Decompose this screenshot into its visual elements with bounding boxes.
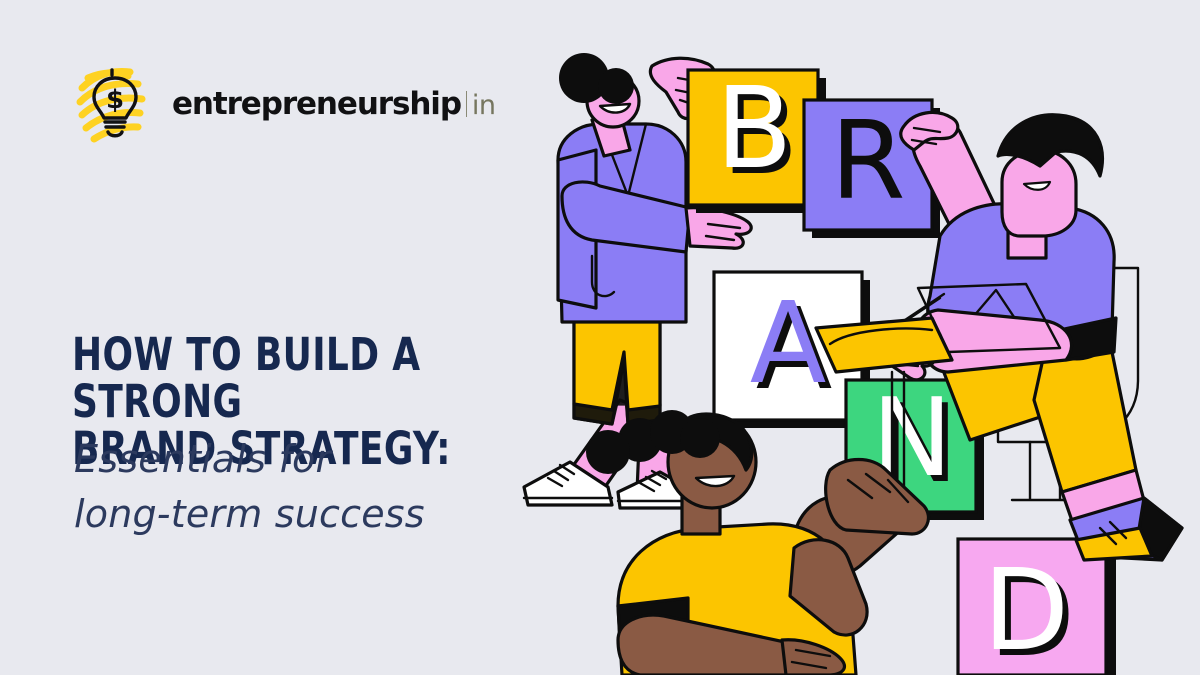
logo-word-in: in	[472, 92, 495, 119]
lightbulb-dollar-icon: $	[72, 58, 158, 150]
logo-word-main: entrepreneurship	[172, 89, 461, 120]
headline-line-1: How to Build a Strong	[72, 328, 420, 428]
logo-divider-1	[466, 91, 467, 117]
svg-text:$: $	[106, 85, 124, 115]
subheadline-line-1: Essentials for	[74, 437, 331, 481]
banner-canvas: $ entrepreneurship in a box How to Build…	[0, 0, 1200, 675]
hero-illustration: .ink{stroke:#0d0d0d;stroke-width:3.2;str…	[500, 0, 1200, 675]
svg-text:R: R	[830, 99, 905, 224]
page-subtitle: Essentials for long-term success	[74, 432, 554, 542]
svg-text:A: A	[750, 279, 827, 409]
svg-text:B: B	[716, 64, 793, 194]
svg-text:D: D	[983, 546, 1069, 675]
subheadline-line-2: long-term success	[74, 487, 554, 542]
